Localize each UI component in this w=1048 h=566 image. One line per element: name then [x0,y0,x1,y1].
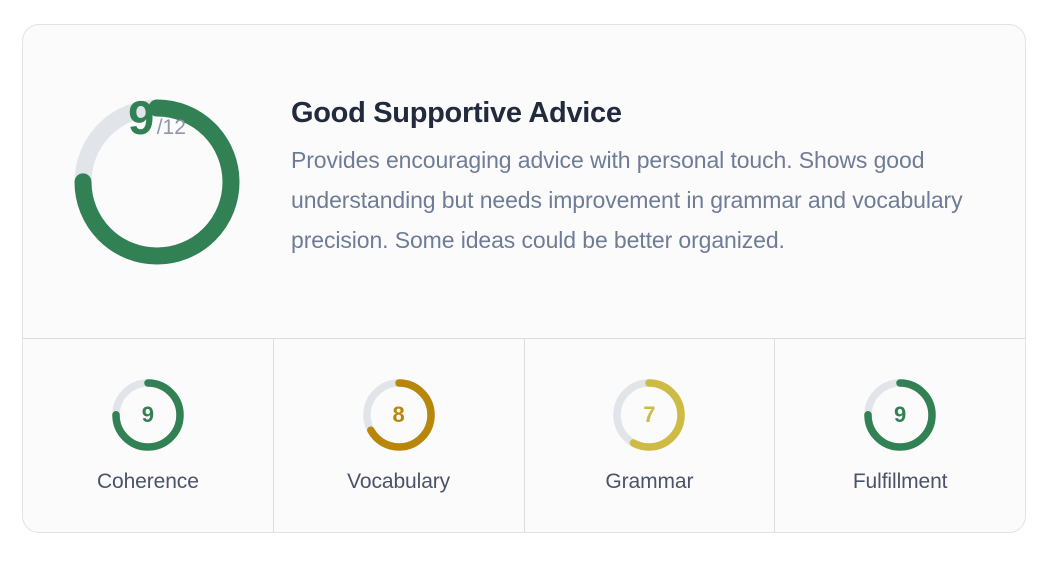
vocabulary-gauge-center: 8 [360,376,438,454]
metric-coherence: 9 Coherence [23,339,274,532]
vocabulary-value: 8 [393,404,405,426]
fulfillment-label: Fulfillment [853,471,948,492]
vocabulary-label: Vocabulary [347,471,450,492]
coherence-label: Coherence [97,471,199,492]
grammar-label: Grammar [605,471,693,492]
overall-gauge-center: 9 /12 [69,94,245,270]
overall-score-gauge-wrap: 9 /12 [23,94,291,270]
score-card: 9 /12 Good Supportive Advice Provides en… [22,24,1026,533]
summary-text-block: Good Supportive Advice Provides encourag… [291,97,1025,261]
metric-fulfillment: 9 Fulfillment [775,339,1025,532]
grammar-gauge-center: 7 [610,376,688,454]
summary-title: Good Supportive Advice [291,97,991,130]
fulfillment-gauge: 9 [861,376,939,454]
fulfillment-value: 9 [894,404,906,426]
summary-description: Provides encouraging advice with persona… [291,141,963,260]
metrics-section: 9 Coherence 8 Vocabulary [23,339,1025,532]
metric-grammar: 7 Grammar [525,339,776,532]
overall-score-gauge: 9 /12 [69,94,245,270]
grammar-value: 7 [643,404,655,426]
overall-score-value: 9 [128,94,154,141]
coherence-value: 9 [142,404,154,426]
vocabulary-gauge: 8 [360,376,438,454]
coherence-gauge-center: 9 [109,376,187,454]
summary-section: 9 /12 Good Supportive Advice Provides en… [23,25,1025,339]
overall-score-total: /12 [157,117,186,138]
metric-vocabulary: 8 Vocabulary [274,339,525,532]
grammar-gauge: 7 [610,376,688,454]
fulfillment-gauge-center: 9 [861,376,939,454]
coherence-gauge: 9 [109,376,187,454]
